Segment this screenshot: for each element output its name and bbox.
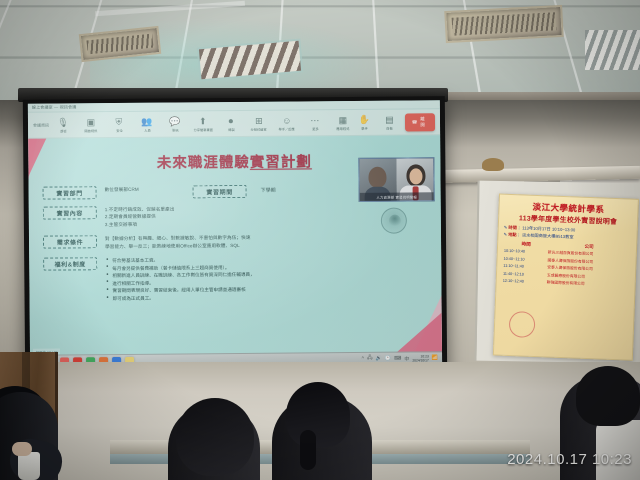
section-tag: 福利&制度	[43, 257, 97, 270]
video-call-thumbnail[interactable]: 人力資源部 實習說明簡報	[358, 157, 434, 202]
whiteboard-icon: ▤	[385, 114, 394, 124]
chat-icon: 💬	[169, 116, 180, 126]
section-tag: 實習部門	[43, 186, 97, 199]
toolbar-button-mic[interactable]: 🎙 靜音	[52, 117, 74, 133]
toolbar-button-record[interactable]: ⏺ 錄製	[220, 115, 242, 131]
slide-row-period: 實習期間 下學期	[193, 184, 343, 198]
keyboard-icon[interactable]: ⌨	[394, 356, 401, 362]
toolbar-label: 分組討論室	[251, 126, 267, 131]
leave-meeting-button[interactable]: ☎ 離開	[405, 113, 435, 131]
video-camera-icon: ▣	[87, 117, 96, 127]
record-icon: ⏺	[229, 116, 234, 126]
apps-icon: ▦	[339, 115, 348, 125]
slide-row-benefits: 福利&制度 符合勞基法基本工資。 每月會另提供餐費補助（餐卡儲值限系上三超商資使…	[43, 254, 431, 303]
toolbar-button-participants[interactable]: 👥 人員	[136, 116, 158, 132]
toolbar-button-video[interactable]: ▣ 開啟視訊	[80, 117, 102, 133]
photo-timestamp: 2024.10.17 10:23	[507, 451, 632, 468]
audience-person-hair	[576, 366, 640, 426]
audience-person-hand	[12, 442, 32, 456]
company-logo-watermark	[381, 208, 407, 234]
toolbar-label: 錄製	[228, 127, 234, 132]
leave-button-label: 離開	[420, 116, 428, 128]
breakout-rooms-icon: ⊞	[255, 115, 263, 125]
toolbar-button-chat[interactable]: 💬 聊天	[164, 116, 186, 132]
toolbar-label: 開啟視訊	[84, 128, 97, 133]
toolbar-button-share-screen[interactable]: ⬆ 分享螢幕畫面	[192, 116, 214, 132]
bulletin-board: 淡江大學統計學系 113學年度學生校外實習說明會 ✎ 時間 ：113年10月17…	[474, 181, 640, 364]
cell-time: 12:10~12:40	[503, 278, 547, 287]
participant-name-label: 人力資源部 實習說明簡報	[360, 192, 434, 201]
toolbar-label: 人員	[144, 127, 150, 132]
toolbar-button-apps[interactable]: ▦ 應用程式	[332, 114, 354, 130]
slide-title-underlined: 實習計劃	[250, 154, 312, 171]
poster-stamp	[507, 309, 537, 339]
slide-title-main: 未來職涯體驗	[157, 155, 250, 172]
toolbar-right-group: ✋ 舉手 ▤ 白板 ☎ 離開	[354, 113, 435, 132]
people-icon: 👥	[141, 116, 152, 126]
toolbar-label: 更多	[312, 126, 318, 131]
projected-desktop: 線上會議室 — 視訊會議 會議資訊 🎙 靜音 ▣ 開啟視訊 ⛨ 安	[28, 100, 442, 368]
phone-hangup-icon: ☎	[412, 119, 418, 125]
more-icon: ⋯	[310, 115, 319, 125]
participant-face	[409, 168, 422, 184]
meeting-info-label[interactable]: 會議資訊	[33, 122, 52, 128]
audience-person-shirt	[596, 420, 640, 480]
ceiling-window	[585, 30, 640, 70]
classroom-photo: 線上會議室 — 視訊會議 會議資訊 🎙 靜音 ▣ 開啟視訊 ⛨ 安	[0, 0, 640, 480]
meeting-toolbar: 會議資訊 🎙 靜音 ▣ 開啟視訊 ⛨ 安全 👥	[28, 109, 440, 139]
volume-icon[interactable]: 🔊	[376, 356, 382, 362]
toolbar-label: 舉手	[361, 125, 367, 130]
paper-cup	[18, 452, 40, 480]
toolbar-tools: 🎙 靜音 ▣ 開啟視訊 ⛨ 安全 👥 人員	[52, 114, 354, 133]
toolbar-label: 靜音	[60, 128, 66, 133]
reactions-icon: ☺	[282, 115, 291, 125]
slide-row-content: 實習內容 1.不定時行銷成效、促銷名單產出 2.定期會員經營數據提供 3.主管交…	[43, 203, 431, 229]
poster-meta-label: 時間	[508, 225, 517, 230]
toolbar-button-breakout-rooms[interactable]: ⊞ 分組討論室	[248, 115, 270, 131]
clock-icon[interactable]: 🕑	[385, 356, 391, 362]
section-tag: 實習期間	[193, 185, 247, 198]
period-value: 下學期	[247, 185, 276, 198]
audience-person-hair	[176, 398, 254, 476]
toolbar-label: 應用程式	[336, 126, 349, 131]
toolbar-button-security[interactable]: ⛨ 安全	[108, 116, 130, 132]
poster-meta-value: 113年10月17日 10:10~13:00	[522, 225, 575, 232]
wall-object	[482, 158, 504, 171]
section-body: 符合勞基法基本工資。 每月會另提供餐費補助（餐卡儲值限系上三超商資使用）。 相關…	[97, 254, 431, 302]
poster-meta-label: 地點	[508, 232, 517, 237]
toolbar-label: 安全	[116, 128, 122, 133]
toolbar-button-more[interactable]: ⋯ 更多	[304, 115, 326, 131]
audience-person-ponytail	[300, 430, 316, 470]
audience-person-hair	[286, 382, 350, 448]
toolbar-button-reactions[interactable]: ☺ 舉手／反應	[276, 115, 298, 131]
toolbar-label: 舉手／反應	[279, 126, 295, 131]
app-window-title: 線上會議室 — 視訊會議	[32, 104, 77, 110]
toolbar-label: 分享螢幕畫面	[193, 127, 212, 132]
toolbar-button-whiteboard[interactable]: ▤ 白板	[379, 114, 400, 130]
raise-hand-icon: ✋	[358, 114, 369, 124]
screen-share-icon: ⬆	[199, 116, 207, 126]
presentation-slide: 未來職涯體驗實習計劃 實習部門 數位發展部CRM 實習期間 下學期 實	[28, 135, 442, 359]
notification-icon[interactable]: 📶	[432, 355, 438, 361]
ime-icon[interactable]: 中	[404, 355, 409, 362]
shield-icon: ⛨	[115, 116, 122, 126]
poster-meta-value: 淡水校園商管大樓B513教室	[522, 232, 574, 239]
slide-content: 實習部門 數位發展部CRM 實習期間 下學期 實習內容 1.不定時行銷成效、促銷…	[43, 183, 432, 310]
toolbar-button-raise-hand[interactable]: ✋ 舉手	[354, 114, 375, 130]
section-tag: 需求條件	[43, 235, 97, 248]
section-tag: 實習內容	[43, 206, 97, 219]
air-vent-icon	[444, 5, 564, 43]
internship-info-poster: 淡江大學統計學系 113學年度學生校外實習說明會 ✎ 時間 ：113年10月17…	[493, 194, 639, 361]
toolbar-label: 聊天	[172, 127, 178, 132]
benefits-list: 符合勞基法基本工資。 每月會另提供餐費補助（餐卡儲值限系上三超商資使用）。 相關…	[105, 254, 431, 302]
participant-head	[368, 167, 386, 188]
section-body: 對【數據分析】有興趣、細心、對數據敏銳、不害怕與數字為伍；快速 學習能力、舉一反…	[97, 233, 431, 251]
projector-screen: 線上會議室 — 視訊會議 會議資訊 🎙 靜音 ▣ 開啟視訊 ⛨ 安	[23, 96, 447, 378]
mic-icon: 🎙	[57, 117, 69, 127]
chevron-up-icon[interactable]: ^	[362, 356, 364, 362]
toolbar-label: 白板	[386, 125, 392, 130]
slide-row-requirements: 需求條件 對【數據分析】有興趣、細心、對數據敏銳、不害怕與數字為伍；快速 學習能…	[43, 233, 431, 251]
list-item-cont: 即可成為正式員工。	[106, 292, 432, 302]
